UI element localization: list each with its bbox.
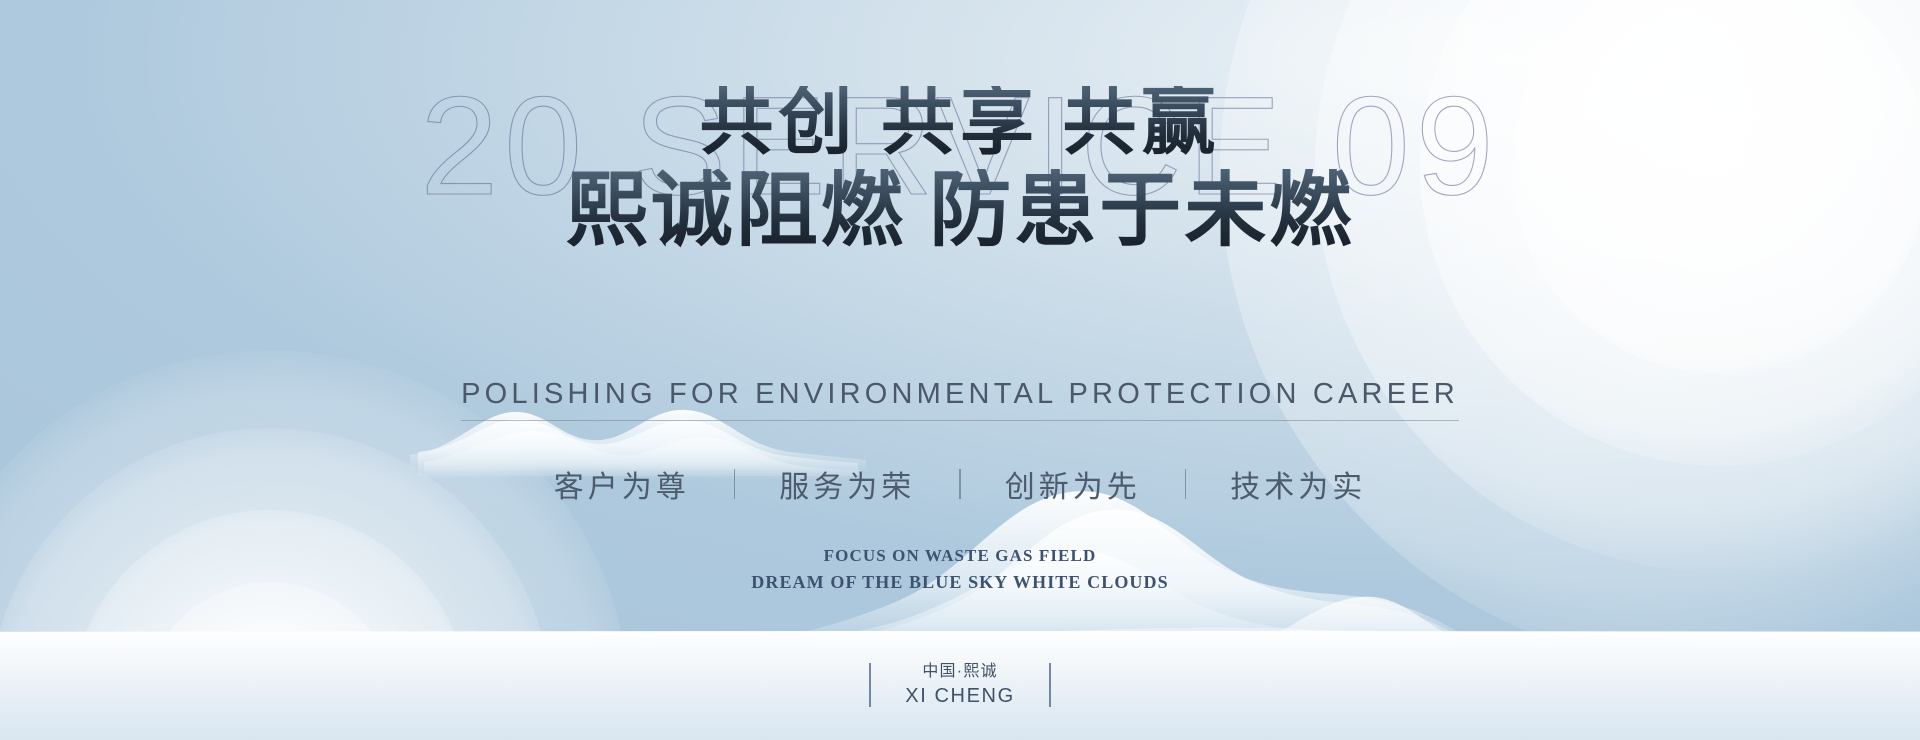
signature-en: XI CHENG [905, 685, 1014, 707]
tagline-line-1: FOCUS ON WASTE GAS FIELD [0, 544, 1920, 569]
signature-cn: 中国·熙诚 [922, 663, 997, 680]
signature-bar-right [1049, 663, 1051, 707]
signature-block: 中国·熙诚 XI CHENG [0, 660, 1920, 709]
values-row: 客户为尊 服务为荣 创新为先 技术为实 [0, 462, 1920, 506]
headline-line-2: 熙诚阻燃 防患于未燃 [0, 169, 1920, 253]
value-item-1: 客户为尊 [554, 462, 690, 506]
signature-bar-left [869, 663, 871, 707]
value-separator-2 [959, 469, 961, 499]
value-item-3: 创新为先 [1005, 462, 1141, 506]
headline-block: 共创 共享 共赢 熙诚阻燃 防患于未燃 [0, 86, 1920, 253]
tagline-block: FOCUS ON WASTE GAS FIELD DREAM OF THE BL… [0, 544, 1920, 595]
value-separator-1 [734, 469, 736, 499]
floor-edge-highlight [0, 631, 1920, 633]
tagline-line-2: DREAM OF THE BLUE SKY WHITE CLOUDS [0, 569, 1920, 595]
subtitle-wrapper: POLISHING FOR ENVIRONMENTAL PROTECTION C… [0, 378, 1920, 421]
signature-text: 中国·熙诚 XI CHENG [905, 660, 1014, 709]
value-item-2: 服务为荣 [779, 462, 915, 506]
subtitle-text: POLISHING FOR ENVIRONMENTAL PROTECTION C… [461, 378, 1459, 421]
banner-canvas: 20 SERVICE 09 [0, 0, 1920, 740]
headline-line-1: 共创 共享 共赢 [0, 86, 1920, 161]
value-separator-3 [1185, 469, 1187, 499]
value-item-4: 技术为实 [1230, 462, 1366, 506]
